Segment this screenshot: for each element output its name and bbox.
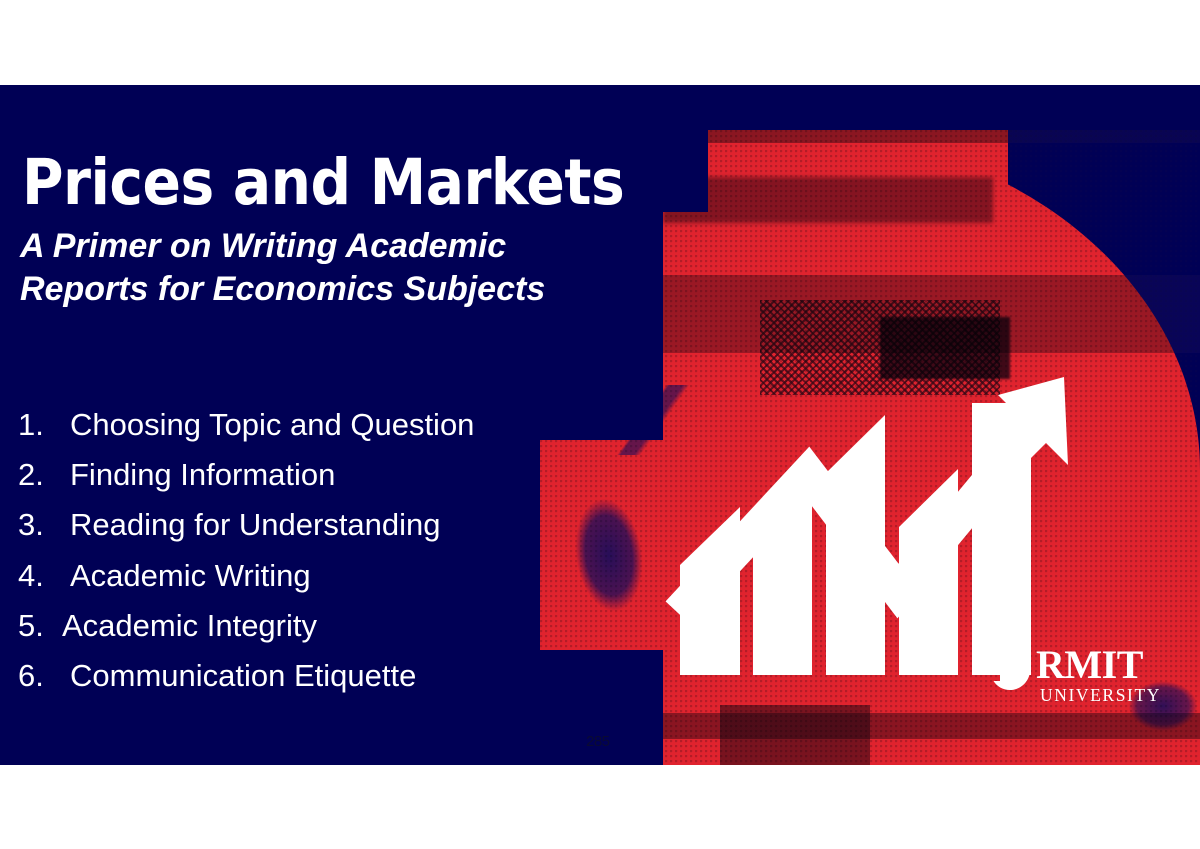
list-item[interactable]: 3. Reading for Understanding: [18, 500, 474, 550]
rmit-wordmark: RMIT: [1036, 645, 1143, 685]
text-column: Prices and Markets A Primer on Writing A…: [0, 85, 660, 765]
subtitle-line-2: Reports for Economics Subjects: [20, 268, 660, 311]
list-item-number: 5.: [18, 601, 62, 651]
list-item[interactable]: 4. Academic Writing: [18, 551, 474, 601]
list-item-label: Finding Information: [70, 450, 335, 500]
list-item-label: Reading for Understanding: [70, 500, 441, 550]
list-item-label: Choosing Topic and Question: [70, 400, 474, 450]
list-item[interactable]: 1. Choosing Topic and Question: [18, 400, 474, 450]
page-title: Prices and Markets: [22, 151, 624, 215]
list-item-number: 4.: [18, 551, 70, 601]
rmit-circle-mark-icon: [988, 650, 1030, 690]
list-item[interactable]: 2. Finding Information: [18, 450, 474, 500]
rmit-university-text: UNIVERSITY: [1040, 685, 1161, 706]
list-item-label: Academic Writing: [70, 551, 311, 601]
list-item[interactable]: 6. Communication Etiquette: [18, 651, 474, 701]
list-item-label: Communication Etiquette: [70, 651, 416, 701]
subtitle-line-1: A Primer on Writing Academic: [20, 225, 660, 268]
rmit-logo: RMIT UNIVERSITY: [988, 645, 1138, 707]
list-item-number: 2.: [18, 450, 70, 500]
list-item-label: Academic Integrity: [62, 601, 317, 651]
slide-number: 285: [586, 733, 610, 750]
title-slide: RMIT UNIVERSITY Prices and Markets A Pri…: [0, 85, 1200, 765]
red-panel-step-top: [708, 130, 1008, 210]
slide-subtitle: A Primer on Writing Academic Reports for…: [20, 225, 660, 311]
growth-chart-icon: [660, 355, 1080, 680]
list-item-number: 3.: [18, 500, 70, 550]
list-item[interactable]: 5. Academic Integrity: [18, 601, 474, 651]
agenda-list: 1. Choosing Topic and Question 2. Findin…: [18, 400, 474, 701]
list-item-number: 1.: [18, 400, 70, 450]
list-item-number: 6.: [18, 651, 70, 701]
